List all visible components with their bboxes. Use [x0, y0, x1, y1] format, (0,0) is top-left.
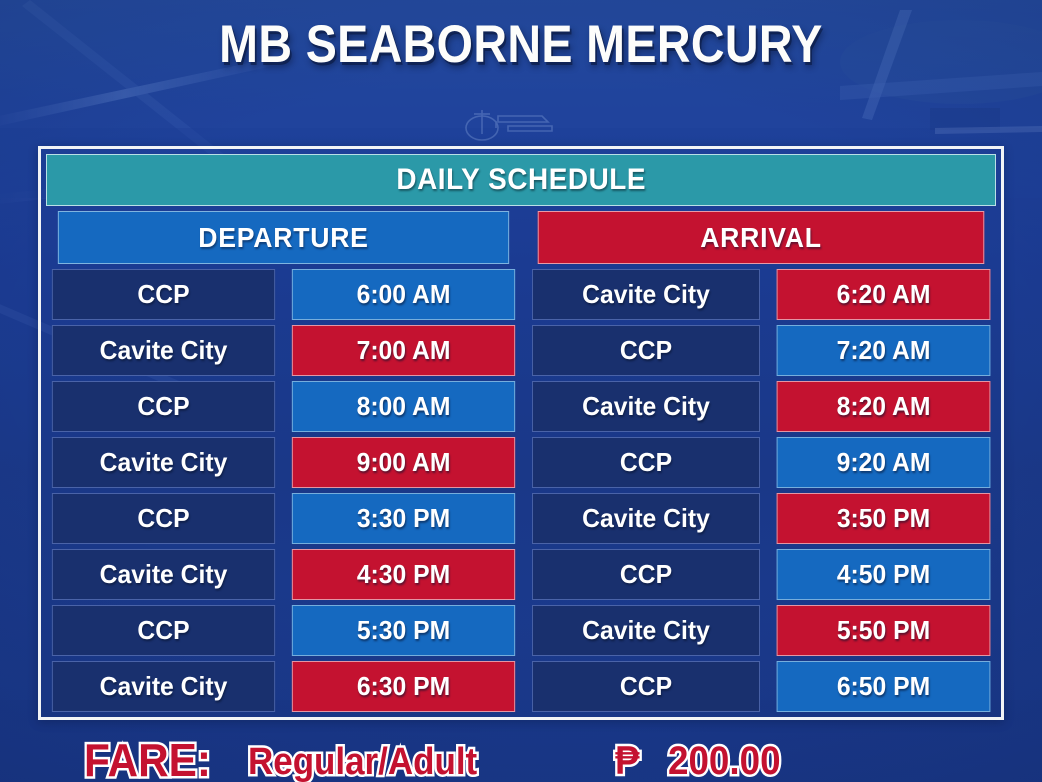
cell-arrival-station: Cavite City	[532, 269, 760, 320]
cell-arrival-station: Cavite City	[532, 605, 760, 656]
cell-departure-station: Cavite City	[52, 437, 275, 488]
cell-departure-station: Cavite City	[52, 661, 275, 712]
cell-arrival-time: 8:20 AM	[777, 381, 991, 432]
cell-arrival-station: Cavite City	[532, 381, 760, 432]
cell-arrival-time: 7:20 AM	[777, 325, 991, 376]
boat-outline-icon	[456, 104, 586, 146]
cell-arrival-time: 9:20 AM	[777, 437, 991, 488]
table-row: Cavite City7:00 AMCCP7:20 AM	[46, 325, 996, 376]
fare-label: FARE:	[84, 737, 211, 782]
table-row: Cavite City9:00 AMCCP9:20 AM	[46, 437, 996, 488]
table-row: Cavite City4:30 PMCCP4:50 PM	[46, 549, 996, 600]
cell-departure-time: 8:00 AM	[292, 381, 515, 432]
fare-amount: 200.00	[668, 737, 781, 781]
cell-arrival-station: CCP	[532, 437, 760, 488]
daily-schedule-label: DAILY SCHEDULE	[396, 163, 646, 197]
page-title: MB SEABORNE MERCURY	[219, 14, 823, 75]
table-row: Cavite City6:30 PMCCP6:50 PM	[46, 661, 996, 712]
cell-arrival-time: 4:50 PM	[777, 549, 991, 600]
cell-departure-time: 5:30 PM	[292, 605, 515, 656]
header-departure: DEPARTURE	[58, 211, 509, 264]
cell-departure-time: 9:00 AM	[292, 437, 515, 488]
cell-arrival-time: 6:20 AM	[777, 269, 991, 320]
cell-departure-time: 4:30 PM	[292, 549, 515, 600]
table-row: CCP6:00 AMCavite City6:20 AM	[46, 269, 996, 320]
table-row: CCP8:00 AMCavite City8:20 AM	[46, 381, 996, 432]
cell-arrival-station: CCP	[532, 325, 760, 376]
schedule-table: DAILY SCHEDULE DEPARTURE ARRIVAL CCP6:00…	[38, 146, 1004, 720]
column-headers-row: DEPARTURE ARRIVAL	[46, 211, 996, 264]
cell-departure-time: 6:00 AM	[292, 269, 515, 320]
header-arrival-label: ARRIVAL	[700, 222, 822, 254]
cell-departure-station: CCP	[52, 605, 275, 656]
cell-arrival-time: 5:50 PM	[777, 605, 991, 656]
cell-arrival-station: CCP	[532, 661, 760, 712]
cell-departure-station: Cavite City	[52, 549, 275, 600]
table-row: CCP3:30 PMCavite City3:50 PM	[46, 493, 996, 544]
table-row: CCP5:30 PMCavite City5:50 PM	[46, 605, 996, 656]
schedule-rows: CCP6:00 AMCavite City6:20 AMCavite City7…	[46, 269, 996, 712]
cell-arrival-station: Cavite City	[532, 493, 760, 544]
cell-departure-station: CCP	[52, 381, 275, 432]
cell-departure-station: CCP	[52, 493, 275, 544]
cell-departure-station: CCP	[52, 269, 275, 320]
title-container: MB SEABORNE MERCURY	[0, 14, 1042, 75]
cell-arrival-time: 3:50 PM	[777, 493, 991, 544]
cell-arrival-station: CCP	[532, 549, 760, 600]
peso-sign-icon: ₱	[615, 737, 640, 781]
cell-departure-time: 3:30 PM	[292, 493, 515, 544]
cell-departure-station: Cavite City	[52, 325, 275, 376]
header-arrival: ARRIVAL	[538, 211, 985, 264]
fare-strip: FARE: Regular/Adult ₱ 200.00	[0, 737, 1042, 782]
cell-arrival-time: 6:50 PM	[777, 661, 991, 712]
daily-schedule-banner: DAILY SCHEDULE	[46, 154, 996, 206]
fare-passenger-type: Regular/Adult	[248, 737, 477, 781]
header-departure-label: DEPARTURE	[198, 222, 368, 254]
cell-departure-time: 6:30 PM	[292, 661, 515, 712]
cell-departure-time: 7:00 AM	[292, 325, 515, 376]
